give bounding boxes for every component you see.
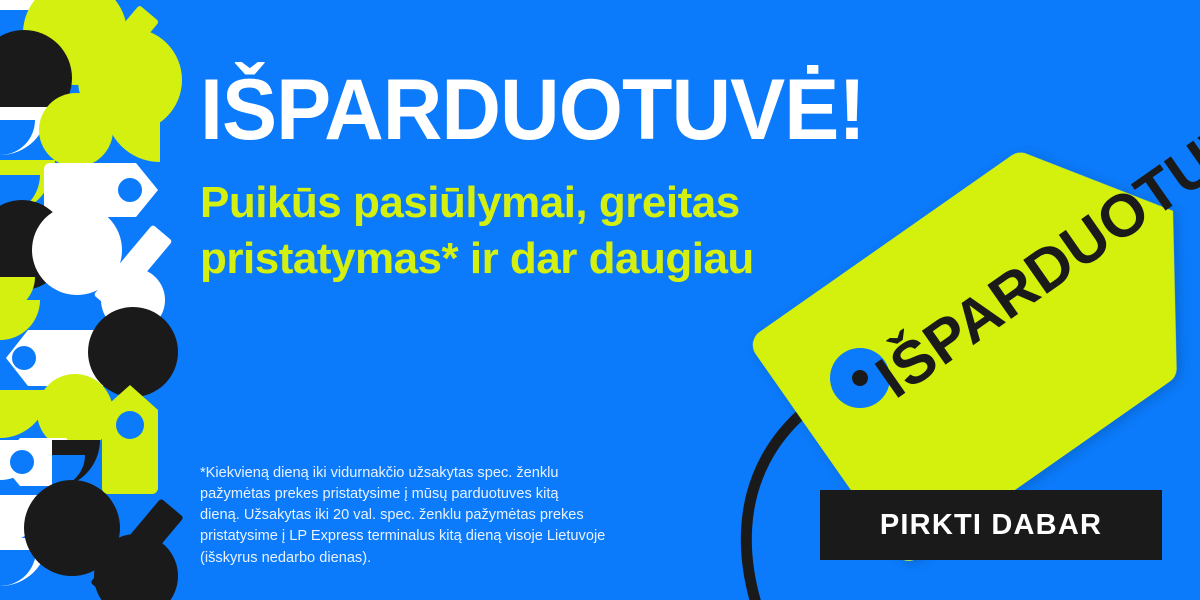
sale-banner: IŠPARDUOTUVĖ! IŠPARDUOTUVĖ! Puikūs pasiū… <box>0 0 1200 600</box>
subtitle: Puikūs pasiūlymai, greitas pristatymas* … <box>200 175 860 288</box>
fineprint-disclaimer: *Kiekvieną dieną iki vidurnakčio užsakyt… <box>200 463 705 569</box>
circle-icon <box>39 93 113 167</box>
page-title: IŠPARDUOTUVĖ! <box>200 70 865 152</box>
decorative-pattern-strip <box>0 0 190 600</box>
buy-now-button[interactable]: PIRKTI DABAR <box>820 490 1162 560</box>
fineprint-line: pažymėtas prekes pristatysime į mūsų par… <box>200 484 705 505</box>
fineprint-line: *Kiekvieną dieną iki vidurnakčio užsakyt… <box>200 463 705 484</box>
fineprint-line: (išskyrus nedarbo dienas). <box>200 548 705 569</box>
fineprint-line: pristatysime į LP Express terminalus kit… <box>200 526 705 547</box>
circle-icon <box>88 307 178 397</box>
fineprint-line: dieną. Užsakytas iki 20 val. spec. ženkl… <box>200 505 705 526</box>
tag-knot <box>852 370 868 386</box>
